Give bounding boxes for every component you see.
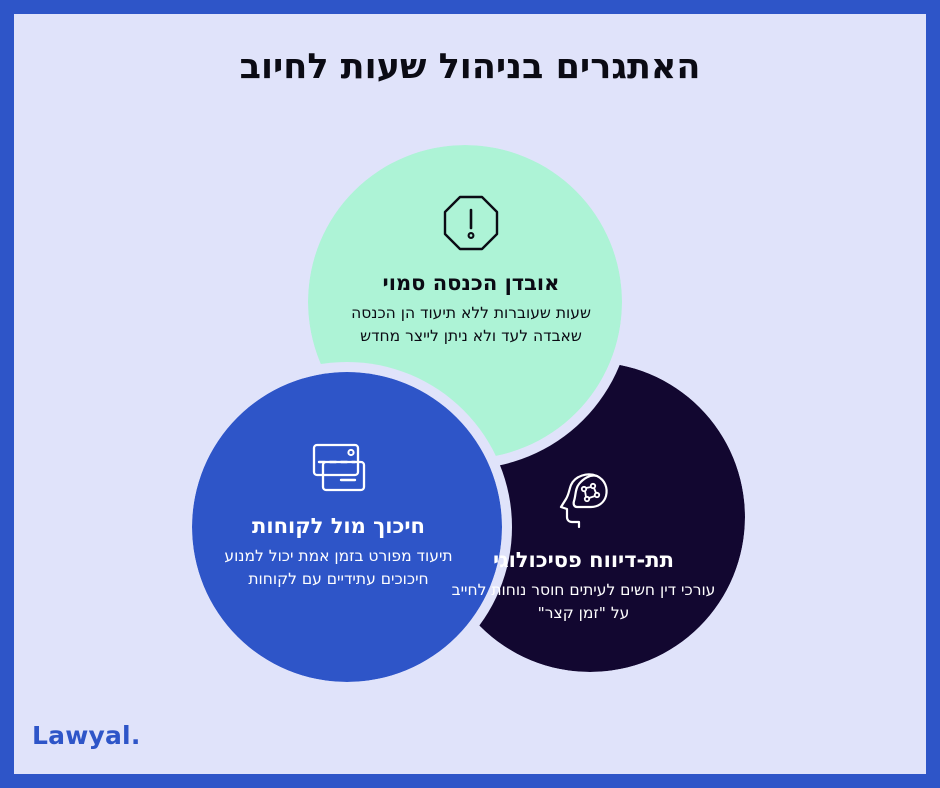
venn-item-blue-body: תיעוד מפורט בזמן אמת יכול למנוע חיכוכים …	[206, 545, 471, 590]
venn-item-green-title: אובדן הכנסה סמוי	[331, 270, 611, 296]
venn-item-blue-title: חיכוך מול לקוחות	[206, 513, 471, 539]
infographic-canvas: האתגרים בניהול שעות לחיוב	[0, 0, 940, 788]
venn-svg	[14, 14, 926, 774]
venn-item-green: אובדן הכנסה סמוי שעות שעוברות ללא תיעוד …	[331, 192, 611, 347]
alert-octagon-icon	[331, 192, 611, 254]
venn-item-green-body: שעות שעוברות ללא תיעוד הן הכנסה שאבדה לע…	[331, 302, 611, 347]
venn-item-dark-title: תת-דיווח פסיכולוגי	[451, 547, 716, 573]
credit-card-icon	[206, 441, 471, 497]
brand-logo: Lawyal.	[32, 721, 141, 750]
head-brain-icon	[451, 469, 716, 531]
infographic-inner-frame: האתגרים בניהול שעות לחיוב	[14, 14, 926, 774]
venn-item-blue: חיכוך מול לקוחות תיעוד מפורט בזמן אמת יכ…	[206, 441, 471, 590]
venn-diagram	[14, 14, 926, 774]
venn-item-dark: תת-דיווח פסיכולוגי עורכי דין חשים לעיתים…	[451, 469, 716, 624]
venn-item-dark-body: עורכי דין חשים לעיתים חוסר נוחות לחייב ע…	[451, 579, 716, 624]
